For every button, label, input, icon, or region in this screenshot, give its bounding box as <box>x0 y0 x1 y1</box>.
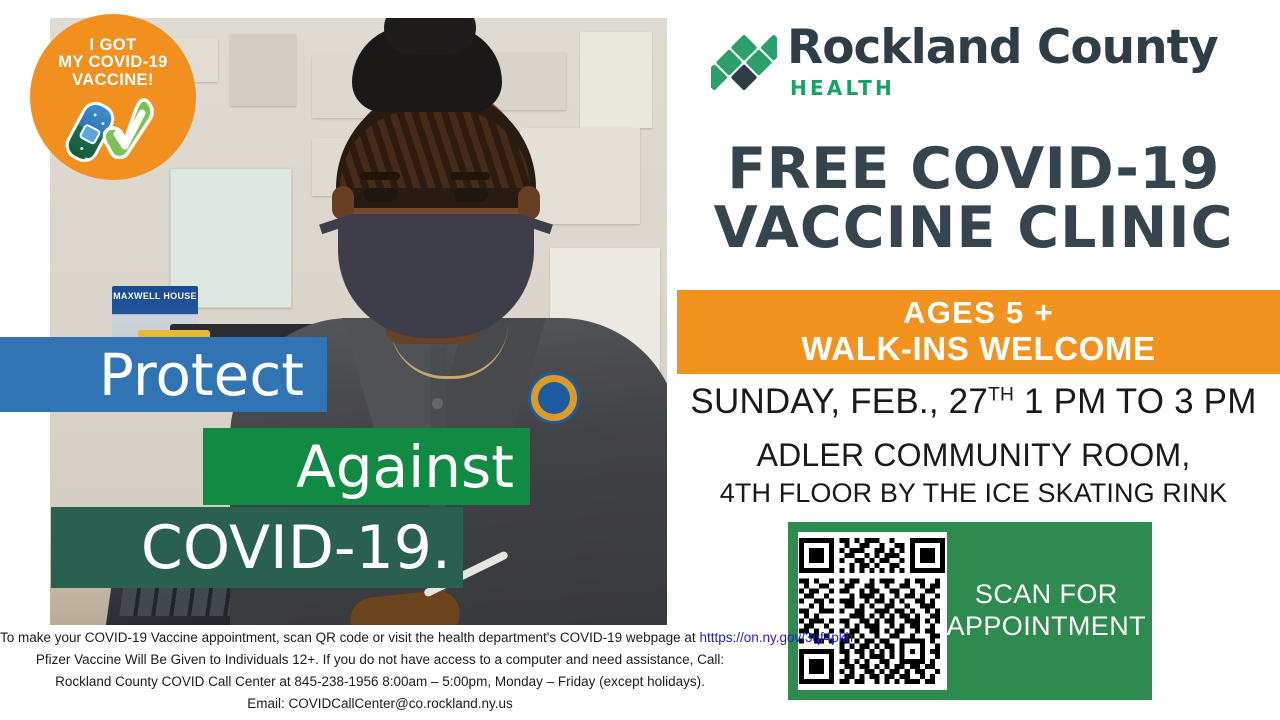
logo-wordmark: Rockland County HEALTH <box>787 24 1218 100</box>
scan-label-line-1: SCAN FOR <box>947 579 1146 611</box>
qr-code <box>799 538 945 684</box>
badge-artwork <box>67 97 159 161</box>
walkins-line: WALK-INS WELCOME <box>801 332 1155 367</box>
checkmark-icon <box>103 97 155 159</box>
i-got-my-covid-vaccine-badge: I GOT MY COVID-19 VACCINE! <box>30 14 196 180</box>
badge-line-1: I GOT <box>90 37 137 54</box>
diamond-cluster-icon <box>711 28 777 114</box>
right-content-column: Rockland County HEALTH FREE COVID-19 VAC… <box>667 0 1280 720</box>
qr-code-frame <box>798 532 947 690</box>
event-datetime: SUNDAY, FEB., 27TH 1 PM TO 3 PM <box>667 382 1280 422</box>
footer-line-1: To make your COVID-19 Vaccine appointmen… <box>0 627 760 649</box>
ages-walkins-banner: AGES 5 + WALK-INS WELCOME <box>677 290 1280 374</box>
covid-webpage-link[interactable]: htttps://on.ny.gov/3qf4pkh <box>699 630 853 645</box>
logo-subtitle: HEALTH <box>790 76 1218 100</box>
event-date-ordinal: TH <box>988 384 1014 405</box>
scan-label-line-2: APPOINTMENT <box>947 611 1146 643</box>
ages-line: AGES 5 + <box>903 297 1054 330</box>
event-location-line-2: 4TH FLOOR BY THE ICE SKATING RINK <box>667 478 1280 509</box>
event-time: 1 PM TO 3 PM <box>1014 382 1257 421</box>
footer-line-4: Email: COVIDCallCenter@co.rockland.ny.us <box>0 693 760 715</box>
event-location-line-1: ADLER COMMUNITY ROOM, <box>667 437 1280 474</box>
band-against: Against <box>203 428 530 505</box>
footer-line-2: Pfizer Vaccine Will Be Given to Individu… <box>0 649 760 671</box>
band-protect: Protect <box>0 337 327 412</box>
event-date-prefix: SUNDAY, FEB., 27 <box>690 382 988 421</box>
badge-line-3: VACCINE! <box>72 72 154 89</box>
vaccine-clinic-poster: MAXWELL HOUSE <box>0 0 1280 720</box>
headline-line-1: FREE COVID-19 <box>667 140 1280 199</box>
rockland-county-health-logo: Rockland County HEALTH <box>711 24 1218 114</box>
page-title: FREE COVID-19 VACCINE CLINIC <box>667 140 1280 257</box>
footer-line-1-text: To make your COVID-19 Vaccine appointmen… <box>0 630 699 645</box>
logo-title: Rockland County <box>787 24 1218 71</box>
footer-contact-info: To make your COVID-19 Vaccine appointmen… <box>0 627 760 714</box>
badge-line-2: MY COVID-19 <box>58 54 168 71</box>
footer-line-3: Rockland County COVID Call Center at 845… <box>0 671 760 693</box>
scan-for-appointment-label: SCAN FOR APPOINTMENT <box>947 579 1152 643</box>
headline-line-2: VACCINE CLINIC <box>667 199 1280 258</box>
scan-for-appointment-card[interactable]: SCAN FOR APPOINTMENT <box>788 522 1152 700</box>
band-covid19: COVID-19. <box>51 507 463 588</box>
